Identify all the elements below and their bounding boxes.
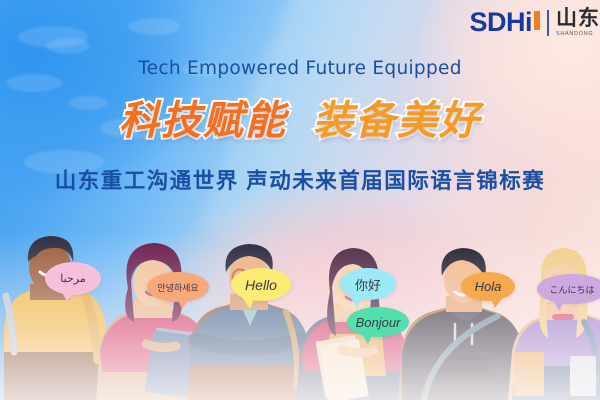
bubble-text: Hola bbox=[475, 279, 502, 294]
chinese-headline: 科技赋能 装备美好 bbox=[0, 88, 600, 146]
speech-bubble-japanese: こんにちは bbox=[537, 274, 600, 304]
english-tagline: Tech Empowered Future Equipped bbox=[0, 58, 600, 79]
speech-bubble-chinese: 你好 bbox=[340, 268, 396, 300]
speech-bubble-arabic: مرحبا bbox=[45, 262, 101, 295]
bubble-tail bbox=[361, 333, 373, 344]
bubble-text: Hello bbox=[245, 277, 277, 293]
bubble-text: Bonjour bbox=[356, 315, 401, 330]
background-bottom-haze bbox=[0, 230, 600, 400]
speech-bubble-spanish: Hola bbox=[461, 272, 515, 301]
bubble-text: مرحبا bbox=[60, 272, 85, 285]
headline-part-2: 装备美好 bbox=[313, 88, 481, 146]
bubble-tail bbox=[177, 298, 190, 309]
headline-block: Tech Empowered Future Equipped 科技赋能 装备美好… bbox=[0, 0, 600, 195]
headline-part-1: 科技赋能 bbox=[119, 88, 287, 146]
bubble-tail bbox=[242, 297, 255, 309]
bubble-text: 你好 bbox=[355, 275, 381, 294]
bubble-text: 안녕하세요 bbox=[157, 281, 198, 294]
bubble-tail bbox=[61, 291, 72, 303]
bubble-text: こんにちは bbox=[549, 283, 594, 296]
speech-bubble-korean: 안녕하세요 bbox=[147, 272, 209, 302]
speech-bubble-french: Bonjour bbox=[347, 307, 409, 337]
bubble-tail bbox=[350, 296, 363, 308]
promotional-banner: SDHi 山东 SHANDONG Tech Empowered Future E… bbox=[0, 0, 600, 400]
bubble-tail bbox=[490, 297, 503, 308]
bubble-tail bbox=[553, 300, 565, 311]
speech-bubble-english: Hello bbox=[231, 268, 291, 301]
chinese-subtitle: 山东重工沟通世界 声动未来首届国际语言锦标赛 bbox=[0, 164, 600, 195]
